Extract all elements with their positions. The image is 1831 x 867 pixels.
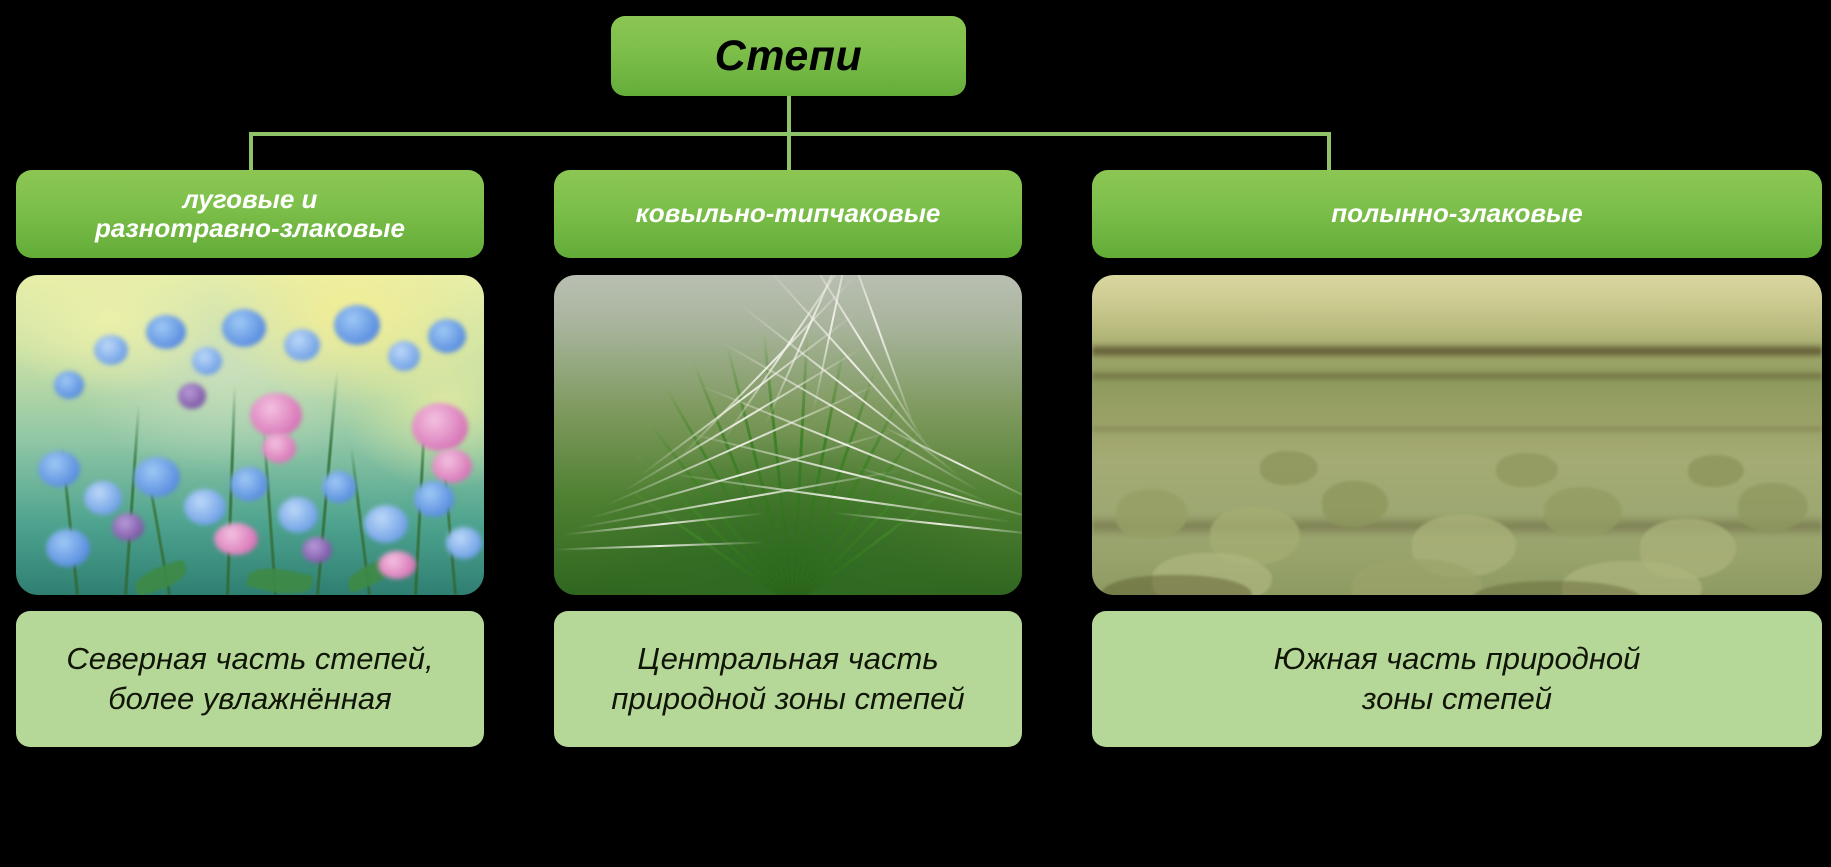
caption-text: Центральная часть природной зоны степей <box>611 639 964 718</box>
connector-drop-branch-2 <box>787 132 791 170</box>
caption-box-polynno: Южная часть природной зоны степей <box>1092 611 1822 747</box>
diagram-canvas: Степи луговые и разнотравно-злаковые ков… <box>0 0 1831 867</box>
feather-grass-stipa-photo <box>554 275 1022 595</box>
root-node-label: Степи <box>715 32 863 81</box>
root-node-stepi[interactable]: Степи <box>611 16 966 96</box>
category-node-polynno[interactable]: полынно-злаковые <box>1092 170 1822 258</box>
caption-text: Северная часть степей, более увлажнённая <box>66 639 433 718</box>
meadow-flowers <box>16 275 484 595</box>
stipa-plumes <box>554 275 1022 595</box>
caption-text: Южная часть природной зоны степей <box>1274 639 1641 718</box>
category-node-label: полынно-злаковые <box>1331 199 1582 228</box>
category-node-label: луговые и разнотравно-злаковые <box>95 185 405 244</box>
connector-drop-branch-3 <box>1327 132 1331 170</box>
category-node-label: ковыльно-типчаковые <box>636 199 941 228</box>
category-node-lugovye[interactable]: луговые и разнотравно-злаковые <box>16 170 484 258</box>
category-node-kovylno[interactable]: ковыльно-типчаковые <box>554 170 1022 258</box>
connector-root-stem <box>787 96 791 134</box>
caption-box-kovylno: Центральная часть природной зоны степей <box>554 611 1022 747</box>
dry-wormwood-steppe-photo <box>1092 275 1822 595</box>
steppe-texture <box>1092 275 1822 595</box>
caption-box-lugovye: Северная часть степей, более увлажнённая <box>16 611 484 747</box>
meadow-forget-me-nots-photo <box>16 275 484 595</box>
connector-drop-branch-1 <box>249 132 253 170</box>
